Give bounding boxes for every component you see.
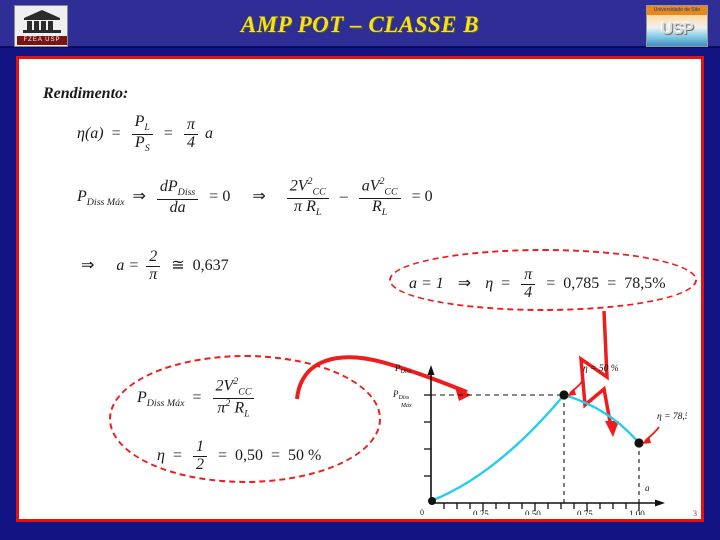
- callout-left-eta: η: [157, 447, 165, 464]
- chart-y-tick-label: PDiss: [392, 389, 410, 401]
- page-title: AMP POT – CLASSE B: [150, 12, 570, 38]
- dissipation-chart: PDiss PDiss Máx 0 0,25 0,50 0,75 1,00 a …: [387, 355, 687, 515]
- chart-origin-label: 0: [420, 508, 424, 515]
- chart-y-ticks: [424, 395, 431, 476]
- chart-xtick-label-2: 0,75: [577, 509, 593, 515]
- callout-left-eta-equation: η = 1 2 = 0,50 = 50 %: [157, 439, 321, 474]
- callout-left-pdiss-equation: PDiss Máx = 2V2CC π2 RL: [137, 377, 257, 420]
- callout-right-percent: 78,5%: [624, 275, 665, 292]
- callout-left-num: 2V2CC: [213, 377, 255, 398]
- callout-right-fraction: π 4: [521, 267, 535, 302]
- callout-right-equation: a = 1 ⇒ η = π 4 = 0,785 = 78,5%: [409, 267, 666, 302]
- callout-left-2vcc: 2V: [216, 377, 234, 394]
- callout-right-implies: ⇒: [448, 275, 481, 292]
- chart-xtick-label-3: 1,00: [629, 509, 645, 515]
- fzea-usp-logo: FZEA USP: [14, 5, 68, 47]
- chart-y-axis-arrow: [428, 365, 435, 375]
- callout-right-pi: π: [521, 267, 535, 284]
- callout-left-two: 2: [193, 456, 207, 474]
- callout-right-a: a = 1: [409, 275, 444, 292]
- callout-left-eta-eq: =: [169, 447, 186, 464]
- callout-right-eq2: =: [542, 275, 559, 292]
- callout-left-eta-eq3: =: [267, 447, 284, 464]
- chart-xtick-label-1: 0,50: [525, 509, 541, 515]
- callout-left-p: PDiss Máx: [137, 389, 184, 406]
- chart-annotation-eta-50: η = 50 %: [583, 364, 619, 374]
- chart-y-axis-label: PDiss: [394, 363, 412, 375]
- usp-logo-subtitle: Universidade de São Paulo: [647, 6, 707, 15]
- chart-y-tick-label-2: Máx: [400, 403, 412, 409]
- callout-right-eta: η: [485, 275, 493, 292]
- callout-left-eta-decimal: 0,50: [235, 447, 263, 464]
- callout-left-eq: =: [188, 389, 205, 406]
- usp-logo: Universidade de São Paulo USP: [646, 5, 708, 47]
- chart-point-unity: [634, 438, 643, 447]
- content-frame: Rendimento: η(a) = PL PS = π 4 a PDiss M…: [16, 56, 704, 522]
- callout-left-p-sub: Diss Máx: [147, 398, 185, 409]
- callout-left-2vcc-sub: CC: [238, 387, 251, 398]
- building-icon: [21, 9, 63, 35]
- callout-right-decimal: 0,785: [563, 275, 599, 292]
- callout-left-r-sub: L: [244, 408, 250, 419]
- page-number: 3: [693, 509, 697, 518]
- chart-annotation-eta-785: η = 78,5 %: [657, 412, 687, 422]
- callout-left-eta-fraction: 1 2: [193, 439, 207, 474]
- chart-point-origin: [428, 497, 436, 505]
- chart-curve: [431, 395, 639, 501]
- chart-x-axis-arrow: [655, 500, 665, 507]
- callout-right-eq3: =: [603, 275, 620, 292]
- fzea-usp-logo-caption: FZEA USP: [17, 36, 67, 45]
- chart-x-axis-label: a: [645, 483, 650, 493]
- callout-left-2vcc-sup: 2: [233, 376, 238, 387]
- callout-left-r: R: [234, 399, 244, 416]
- callout-left-den: π2 RL: [213, 398, 255, 420]
- callout-right-four: 4: [521, 284, 535, 302]
- callout-left-eta-percent: 50 %: [288, 447, 321, 464]
- callout-left-p-letter: P: [137, 389, 147, 406]
- callout-left-fraction: 2V2CC π2 RL: [213, 377, 255, 420]
- chart-point-peak: [559, 390, 568, 399]
- slide: FZEA USP AMP POT – CLASSE B Universidade…: [0, 0, 720, 540]
- chart-xtick-label-0: 0,25: [473, 509, 489, 515]
- slide-header: FZEA USP AMP POT – CLASSE B Universidade…: [0, 0, 720, 48]
- callout-right-eq1: =: [497, 275, 514, 292]
- usp-logo-text: USP: [647, 19, 707, 39]
- callout-left-pi-sup: 2: [225, 398, 230, 409]
- callout-left-eta-eq2: =: [214, 447, 231, 464]
- callout-left-one: 1: [193, 439, 207, 456]
